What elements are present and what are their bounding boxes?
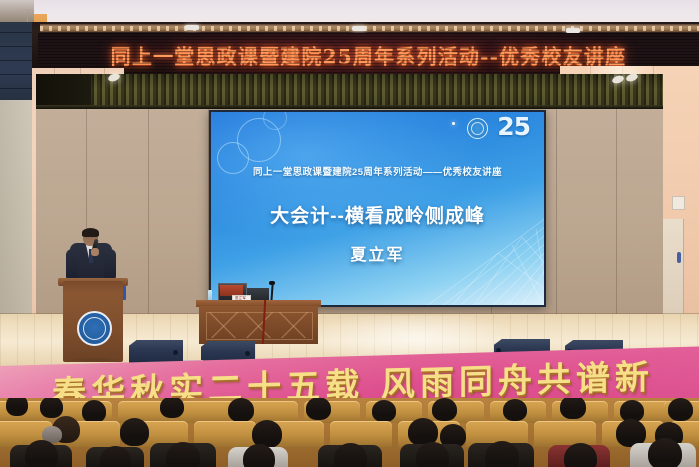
audience-head	[6, 398, 28, 416]
speaker-cone	[245, 351, 250, 356]
anniversary-number: 25	[497, 114, 530, 139]
audience-head	[432, 398, 457, 421]
projection-screen: 25 同上一堂思政课暨建院25周年系列活动——优秀校友讲座 大会计--横看成岭侧…	[211, 112, 544, 305]
audience-head	[503, 399, 527, 421]
beam-light-strip	[40, 26, 699, 31]
audience-head	[306, 398, 331, 420]
audience-head	[82, 400, 106, 423]
slide-title: 大会计--横看成岭侧成峰	[211, 201, 544, 228]
audience-head	[100, 446, 131, 467]
stage-table-pattern	[206, 312, 311, 338]
wall-outlet	[672, 196, 685, 210]
speaker-cone	[173, 350, 178, 355]
stage-curtain-shadow	[36, 74, 91, 108]
school-emblem-icon	[467, 118, 488, 139]
ceiling	[0, 0, 699, 24]
audience-head	[40, 398, 63, 418]
audience-head	[416, 442, 449, 467]
led-banner-text: 同上一堂思政课暨建院25周年系列活动--优秀校友讲座	[38, 40, 699, 69]
slide-speaker-name: 夏立军	[211, 241, 544, 265]
school-emblem-icon	[77, 311, 112, 346]
auditorium-photo: 同上一堂思政课暨建院25周年系列活动--优秀校友讲座	[0, 0, 699, 467]
audience-head	[560, 398, 586, 419]
left-upper-wall-panels	[0, 22, 32, 102]
audience-head	[334, 443, 367, 467]
ceiling-light	[185, 25, 199, 30]
auditorium-seat	[534, 421, 596, 447]
audience-head	[648, 438, 682, 467]
lens-flare	[452, 122, 455, 125]
audience-area	[0, 398, 699, 467]
audience-head	[228, 398, 254, 422]
audience-head	[160, 398, 184, 418]
audience-head	[243, 444, 275, 467]
audience-head	[25, 440, 58, 467]
presenter-hand	[91, 248, 99, 256]
ceiling-left-soffit	[0, 0, 34, 24]
audience-head	[166, 442, 200, 467]
audience-head	[564, 443, 597, 467]
auditorium-seat	[330, 421, 392, 447]
audience-head	[485, 441, 519, 467]
audience-head	[120, 418, 149, 446]
curtain-hem	[36, 105, 663, 109]
stage-curtain-valance	[36, 74, 663, 108]
door-handle[interactable]	[677, 252, 681, 263]
audience-head	[372, 400, 396, 422]
audience-head	[668, 398, 693, 421]
slide-decor-circle	[263, 112, 287, 130]
presenter-hair	[82, 228, 99, 237]
slide-subtitle: 同上一堂思政课暨建院25周年系列活动——优秀校友讲座	[211, 164, 544, 178]
ceiling-light	[352, 26, 366, 31]
